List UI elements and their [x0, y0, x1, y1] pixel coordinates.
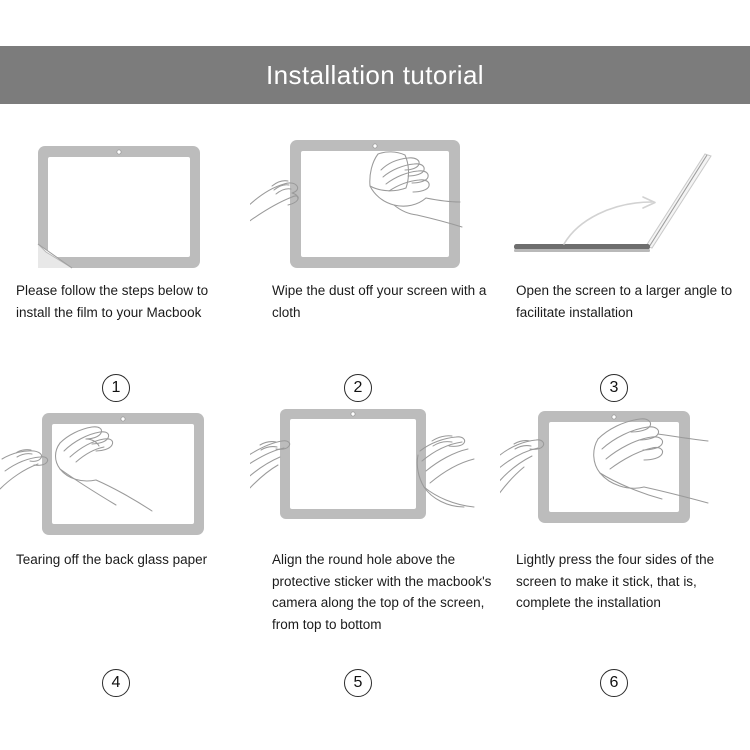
step-card-4: Tearing off the back glass paper 4: [0, 407, 250, 697]
step-6-caption: Lightly press the four sides of the scre…: [500, 549, 750, 614]
step-4-number-wrap: 4: [0, 669, 250, 697]
step-number-badge: 3: [600, 374, 628, 402]
step-number-badge: 2: [344, 374, 372, 402]
step-2-number-wrap: 2: [250, 374, 500, 402]
hands-wiping-screen-icon: [250, 132, 500, 272]
step-number-badge: 4: [102, 669, 130, 697]
step-1-caption: Please follow the steps below to install…: [0, 280, 250, 323]
step-number-badge: 1: [102, 374, 130, 402]
step-2-caption: Wipe the dust off your screen with a clo…: [250, 280, 500, 323]
laptop-open-angle-icon: [500, 132, 750, 272]
tutorial-page: Installation tutorial Please follow the …: [0, 0, 750, 750]
hands-pressing-film-icon: [500, 407, 750, 547]
step-5-caption: Align the round hole above the protectiv…: [250, 549, 500, 635]
step-3-caption: Open the screen to a larger angle to fac…: [500, 280, 750, 323]
step-6-illustration: [500, 407, 750, 547]
step-number-badge: 6: [600, 669, 628, 697]
step-card-1: Please follow the steps below to install…: [0, 132, 250, 407]
hands-tearing-backing-paper-icon: [0, 407, 250, 547]
two-hands-aligning-film-icon: [250, 407, 500, 547]
laptop-screen-peeling-film-icon: [0, 132, 250, 272]
step-6-number-wrap: 6: [500, 669, 750, 697]
step-number-badge: 5: [344, 669, 372, 697]
step-card-2: Wipe the dust off your screen with a clo…: [250, 132, 500, 407]
header-banner: Installation tutorial: [0, 46, 750, 104]
step-card-3: Open the screen to a larger angle to fac…: [500, 132, 750, 407]
step-card-6: Lightly press the four sides of the scre…: [500, 407, 750, 697]
page-title: Installation tutorial: [266, 62, 484, 88]
step-card-5: Align the round hole above the protectiv…: [250, 407, 500, 697]
step-1-number-wrap: 1: [0, 374, 250, 402]
step-3-illustration: [500, 132, 750, 272]
step-1-illustration: [0, 132, 250, 272]
steps-grid: Please follow the steps below to install…: [0, 132, 750, 732]
step-4-illustration: [0, 407, 250, 547]
step-4-caption: Tearing off the back glass paper: [0, 549, 250, 571]
step-3-number-wrap: 3: [500, 374, 750, 402]
step-5-illustration: [250, 407, 500, 547]
step-5-number-wrap: 5: [250, 669, 500, 697]
step-2-illustration: [250, 132, 500, 272]
